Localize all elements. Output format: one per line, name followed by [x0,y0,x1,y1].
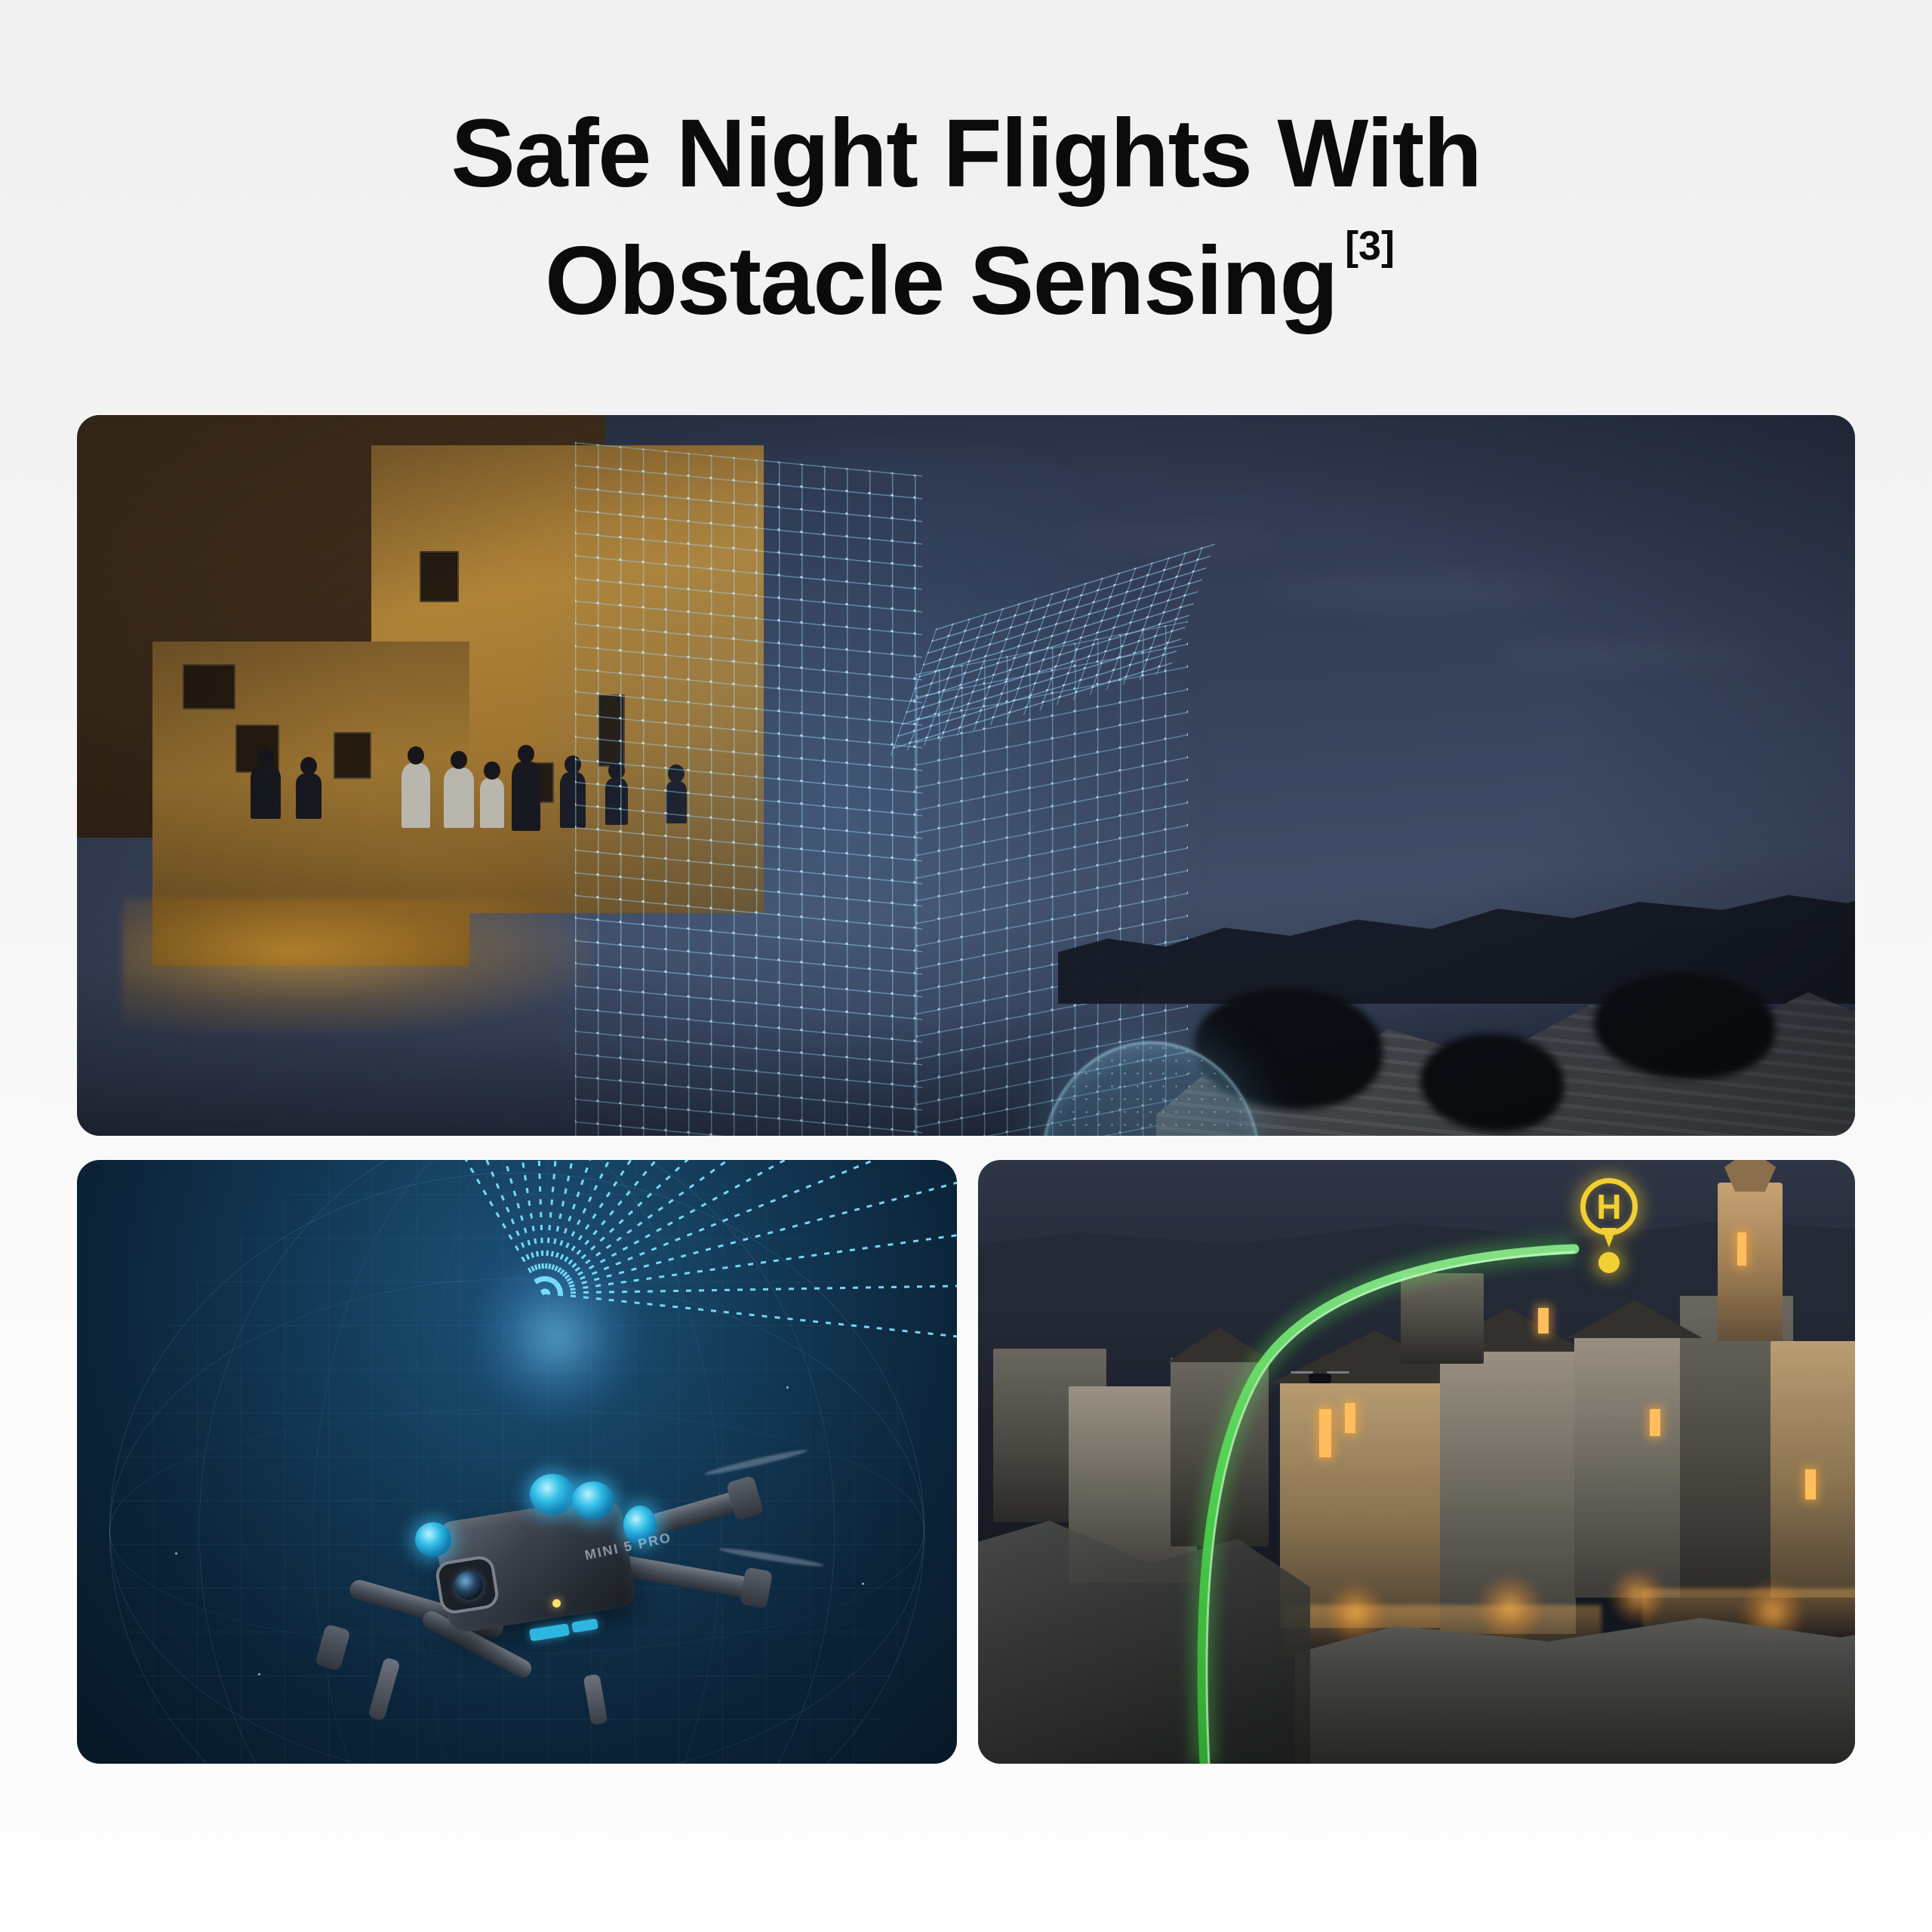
lidar-sensor-icon [415,1522,451,1557]
landing-leg [583,1674,608,1726]
propeller [1327,1371,1349,1374]
home-marker-tail [1601,1228,1617,1247]
home-marker-dot [1598,1252,1620,1273]
home-marker-glyph: H [1580,1178,1638,1235]
home-point-marker: H [1574,1174,1644,1264]
drone-on-path [1291,1368,1349,1388]
lit-window [1650,1409,1660,1436]
lidar-sensor-icon [572,1481,614,1519]
lit-window [1737,1232,1746,1266]
building [1401,1273,1484,1364]
lit-window [1805,1469,1816,1500]
drone-motor [315,1623,351,1671]
roof [1167,1327,1272,1362]
page-title-line-2: Obstacle Sensing[3] [0,218,1932,346]
particle [175,1552,177,1555]
panel-forward-facing-lidar[interactable]: MINI 5 PRO Forward-Facing LiDAR [77,1160,957,1764]
lit-window [1345,1403,1355,1433]
panel-nightscape-obstacle-sensing[interactable]: 360° Nightscape Obstacle Sensing[3] [77,415,1855,1136]
page-title-line-2-text: Obstacle Sensing [545,227,1337,335]
building [1574,1334,1695,1598]
building [1171,1358,1269,1546]
lidar-sensor-icon [530,1474,575,1515]
street-lamp-glow [1609,1567,1666,1625]
lidar-scene: MINI 5 PRO [77,1160,957,1764]
lit-window [1319,1409,1331,1457]
camera-lens [454,1571,483,1600]
landing-leg [368,1657,401,1721]
accent-strip [529,1623,570,1641]
bell-tower [1718,1183,1783,1341]
lit-window [1538,1308,1549,1334]
particle [786,1386,789,1389]
page-title-footnote: [3] [1345,223,1395,269]
drone-body [1309,1374,1331,1383]
page-title-line-1: Safe Night Flights With [0,91,1932,218]
vignette [77,415,1855,1136]
hero-scene [77,415,1855,1136]
drone-illustration: MINI 5 PRO [303,1409,771,1734]
status-led [552,1599,561,1607]
accent-strip [571,1618,598,1632]
rth-scene: H [978,1160,1855,1764]
drone-motor [740,1567,773,1608]
street-lamp-glow [1476,1574,1544,1641]
page-title: Safe Night Flights With Obstacle Sensing… [0,91,1932,346]
drone-motor [726,1475,764,1521]
particle [258,1673,260,1675]
panel-nighttime-rth[interactable]: H Nighttime RTH [978,1160,1855,1764]
particle [862,1583,864,1585]
